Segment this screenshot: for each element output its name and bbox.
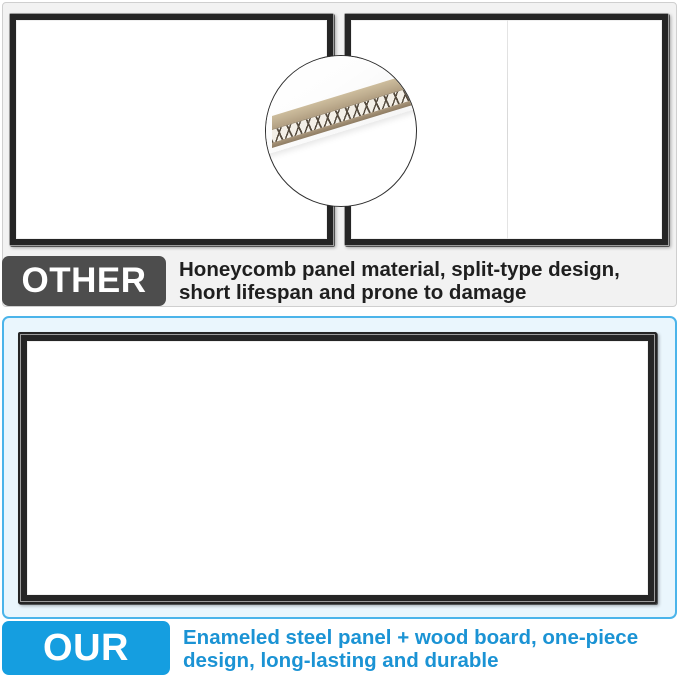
our-caption-text: Enameled steel panel + wood board, one-p… xyxy=(170,621,677,677)
other-caption-text: Honeycomb panel material, split-type des… xyxy=(166,255,677,307)
other-product-section: OTHER Honeycomb panel material, split-ty… xyxy=(0,0,679,312)
our-badge: OUR xyxy=(2,621,170,675)
our-whiteboard-panel xyxy=(18,332,657,604)
other-badge: OTHER xyxy=(2,256,166,306)
honeycomb-material-inset xyxy=(265,55,417,207)
other-caption-row: OTHER Honeycomb panel material, split-ty… xyxy=(2,255,677,307)
comparison-infographic: OTHER Honeycomb panel material, split-ty… xyxy=(0,0,679,681)
our-product-section: OUR Enameled steel panel + wood board, o… xyxy=(0,316,679,681)
panel-seam-line xyxy=(507,20,508,239)
our-caption-row: OUR Enameled steel panel + wood board, o… xyxy=(2,621,677,677)
